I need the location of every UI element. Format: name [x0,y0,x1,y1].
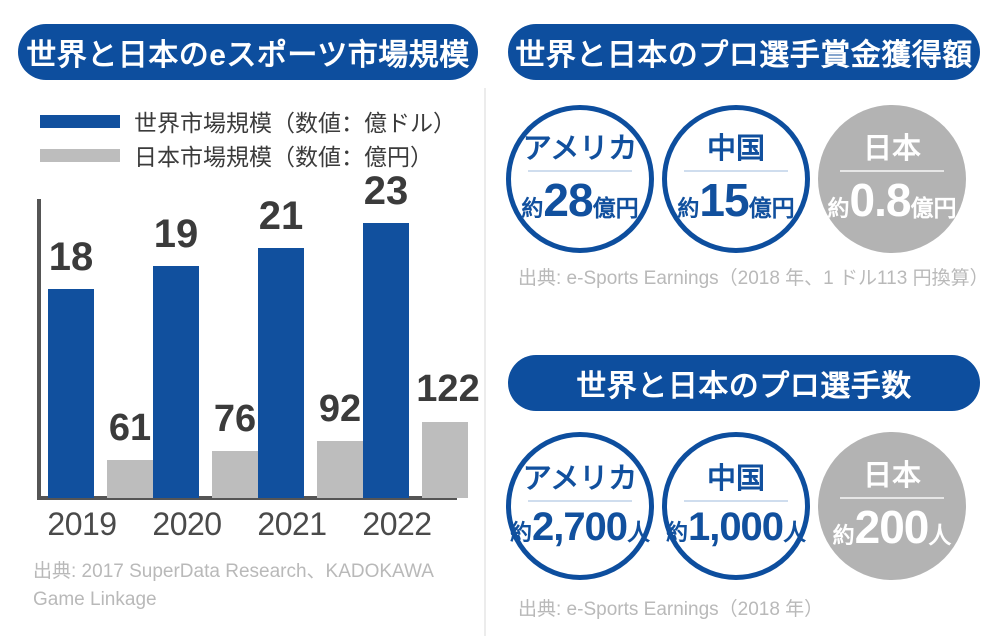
player-count-title-text: 世界と日本のプロ選手数 [576,361,912,405]
prize-divider-america [528,170,632,172]
prize-money-title-text: 世界と日本のプロ選手賞金獲得額 [515,30,973,74]
bar-global-2019 [48,289,94,498]
chart-legend: 世界市場規模（数値：億ドル） 日本市場規模（数値：億円） [40,104,456,172]
bar-global-2022 [363,223,409,498]
x-tick-2022: 2022 [342,506,452,543]
prize-approx-japan: 約 [828,198,850,220]
prize-number-america: 28 [543,177,592,223]
prize-country-china: 中国 [707,135,765,164]
players-divider-japan [840,497,944,499]
players-circle-china: 中国 約 1,000 人 [662,432,810,580]
players-circle-america: アメリカ 約 2,700 人 [506,432,654,580]
players-divider-america [528,500,632,502]
prize-number-japan: 0.8 [850,177,911,223]
prize-divider-japan [840,170,944,172]
bar-value-global-2022: 23 [363,171,409,211]
players-number-japan: 200 [855,504,929,550]
x-tick-2020: 2020 [132,506,242,543]
bar-japan-2019 [107,460,153,498]
players-value-china: 約 1,000 人 [666,507,806,547]
legend-swatch-global [40,115,120,128]
prize-money-title-banner: 世界と日本のプロ選手賞金獲得額 [508,24,980,80]
player-count-circle-group: アメリカ 約 2,700 人 中国 約 1,000 人 日本 約 200 人 [506,432,966,580]
players-country-japan: 日本 [863,462,921,491]
legend-label-global: 世界市場規模（数値：億ドル） [134,104,456,138]
bar-japan-2020 [212,451,258,498]
players-approx-japan: 約 [833,525,855,547]
prize-approx-china: 約 [677,198,699,220]
bar-japan-2022 [422,422,468,498]
prize-country-america: アメリカ [523,135,638,164]
player-count-source-note: 出典: e-Sports Earnings（2018 年） [518,596,983,624]
bar-value-japan-2021: 92 [311,390,369,428]
players-number-america: 2,700 [532,507,627,547]
prize-money-source-note: 出典: e-Sports Earnings（2018 年、1 ドル113 円換算… [518,265,983,293]
players-approx-america: 約 [510,522,532,544]
bar-value-global-2019: 18 [48,237,94,277]
legend-item-global: 世界市場規模（数値：億ドル） [40,104,456,138]
prize-divider-china [684,170,788,172]
prize-circle-china: 中国 約 15 億円 [662,105,810,253]
chart-y-axis [37,199,41,498]
prize-approx-america: 約 [521,198,543,220]
players-unit-america: 人 [627,521,650,544]
players-value-america: 約 2,700 人 [510,507,650,547]
players-country-america: アメリカ [523,465,638,494]
prize-value-america: 約 28 億円 [521,177,638,223]
players-value-japan: 約 200 人 [833,504,952,550]
prize-circle-america: アメリカ 約 28 億円 [506,105,654,253]
bar-value-japan-2019: 61 [101,409,159,447]
legend-item-japan: 日本市場規模（数値：億円） [40,138,456,172]
bar-value-japan-2022: 122 [411,370,485,408]
players-divider-china [684,500,788,502]
prize-unit-america: 億円 [593,197,639,220]
prize-money-circle-group: アメリカ 約 28 億円 中国 約 15 億円 日本 約 0.8 億円 [506,105,966,253]
prize-value-china: 約 15 億円 [677,177,794,223]
market-size-bar-chart: 18 61 19 76 21 92 23 122 2019 2020 2021 … [0,180,484,550]
prize-value-japan: 約 0.8 億円 [828,177,957,223]
players-number-china: 1,000 [688,507,783,547]
prize-circle-japan: 日本 約 0.8 億円 [818,105,966,253]
bar-global-2020 [153,266,199,498]
market-size-panel: 世界と日本のeスポーツ市場規模 世界市場規模（数値：億ドル） 日本市場規模（数値… [0,0,484,643]
player-count-title-banner: 世界と日本のプロ選手数 [508,355,980,411]
x-tick-2021: 2021 [237,506,347,543]
prize-unit-china: 億円 [749,197,795,220]
bar-global-2021 [258,248,304,498]
prize-unit-japan: 億円 [910,197,956,220]
market-size-title-banner: 世界と日本のeスポーツ市場規模 [18,24,478,80]
bar-value-global-2020: 19 [153,214,199,254]
legend-swatch-japan [40,149,120,162]
players-unit-china: 人 [783,521,806,544]
players-circle-japan: 日本 約 200 人 [818,432,966,580]
prize-number-china: 15 [699,177,748,223]
bar-value-japan-2020: 76 [206,400,264,438]
players-unit-japan: 人 [928,524,951,547]
market-size-title-text: 世界と日本のeスポーツ市場規模 [26,30,470,74]
bar-value-global-2021: 21 [258,196,304,236]
prize-country-japan: 日本 [863,135,921,164]
market-size-source-note: 出典: 2017 SuperData Research、KADOKAWA Gam… [33,558,453,613]
bar-japan-2021 [317,441,363,498]
legend-label-japan: 日本市場規模（数値：億円） [134,138,433,172]
players-approx-china: 約 [666,522,688,544]
players-country-china: 中国 [707,465,765,494]
x-tick-2019: 2019 [27,506,137,543]
